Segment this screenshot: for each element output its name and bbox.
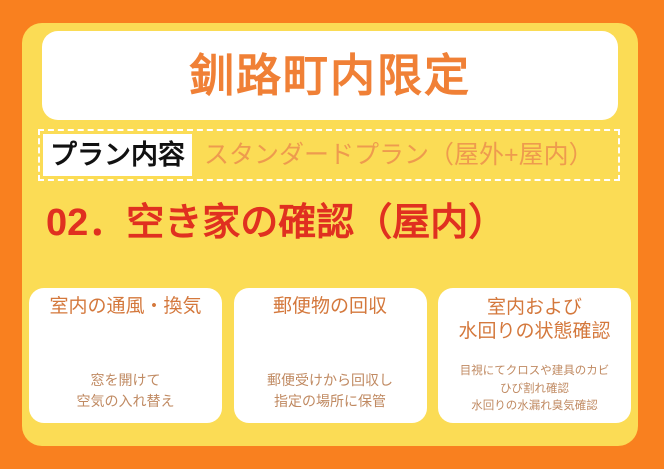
card-title: 室内の通風・換気 [49, 296, 201, 319]
card-title-line: 室内の通風・換気 [49, 296, 201, 319]
title-card: 釧路町内限定 [42, 31, 618, 120]
info-cards-row: 室内の通風・換気 窓を開けて 空気の入れ替え 郵便物の回収 郵便受けから回収し … [29, 288, 631, 423]
card-title-line: 水回りの状態確認 [458, 320, 610, 344]
card-title-line: 室内および [458, 296, 610, 320]
card-body-line: 指定の場所に保管 [267, 391, 393, 411]
card-body: 目視にてクロスや建具のカビ ひび割れ確認 水回りの水漏れ臭気確認 [460, 363, 610, 415]
yellow-panel: 釧路町内限定 プラン内容 スタンダードプラン（屋外+屋内） 02．空き家の確認（… [22, 23, 638, 446]
info-card-interior-water-check: 室内および 水回りの状態確認 目視にてクロスや建具のカビ ひび割れ確認 水回りの… [438, 288, 631, 423]
plan-content-row: プラン内容 スタンダードプラン（屋外+屋内） [38, 129, 620, 181]
info-card-mail-collection: 郵便物の回収 郵便受けから回収し 指定の場所に保管 [234, 288, 427, 423]
card-body: 郵便受けから回収し 指定の場所に保管 [267, 370, 393, 411]
card-title: 郵便物の回収 [273, 296, 387, 319]
card-body-line: 水回りの水漏れ臭気確認 [460, 398, 610, 415]
info-card-ventilation: 室内の通風・換気 窓を開けて 空気の入れ替え [29, 288, 222, 423]
card-title: 室内および 水回りの状態確認 [458, 296, 610, 344]
card-title-line: 郵便物の回収 [273, 296, 387, 319]
section-heading: 02．空き家の確認（屋内） [46, 195, 612, 251]
card-body-line: 窓を開けて [77, 370, 175, 390]
card-body-line: ひび割れ確認 [460, 381, 610, 398]
card-body-line: 空気の入れ替え [77, 391, 175, 411]
section-heading-text: 02．空き家の確認（屋内） [46, 204, 506, 242]
page-title: 釧路町内限定 [189, 53, 471, 98]
plan-label: プラン内容 [50, 142, 185, 169]
poster-root: 釧路町内限定 プラン内容 スタンダードプラン（屋外+屋内） 02．空き家の確認（… [0, 0, 664, 469]
plan-label-box: プラン内容 [43, 134, 192, 176]
card-body: 窓を開けて 空気の入れ替え [77, 370, 175, 411]
plan-value: スタンダードプラン（屋外+屋内） [204, 143, 594, 168]
card-body-line: 目視にてクロスや建具のカビ [460, 363, 610, 380]
card-body-line: 郵便受けから回収し [267, 370, 393, 390]
